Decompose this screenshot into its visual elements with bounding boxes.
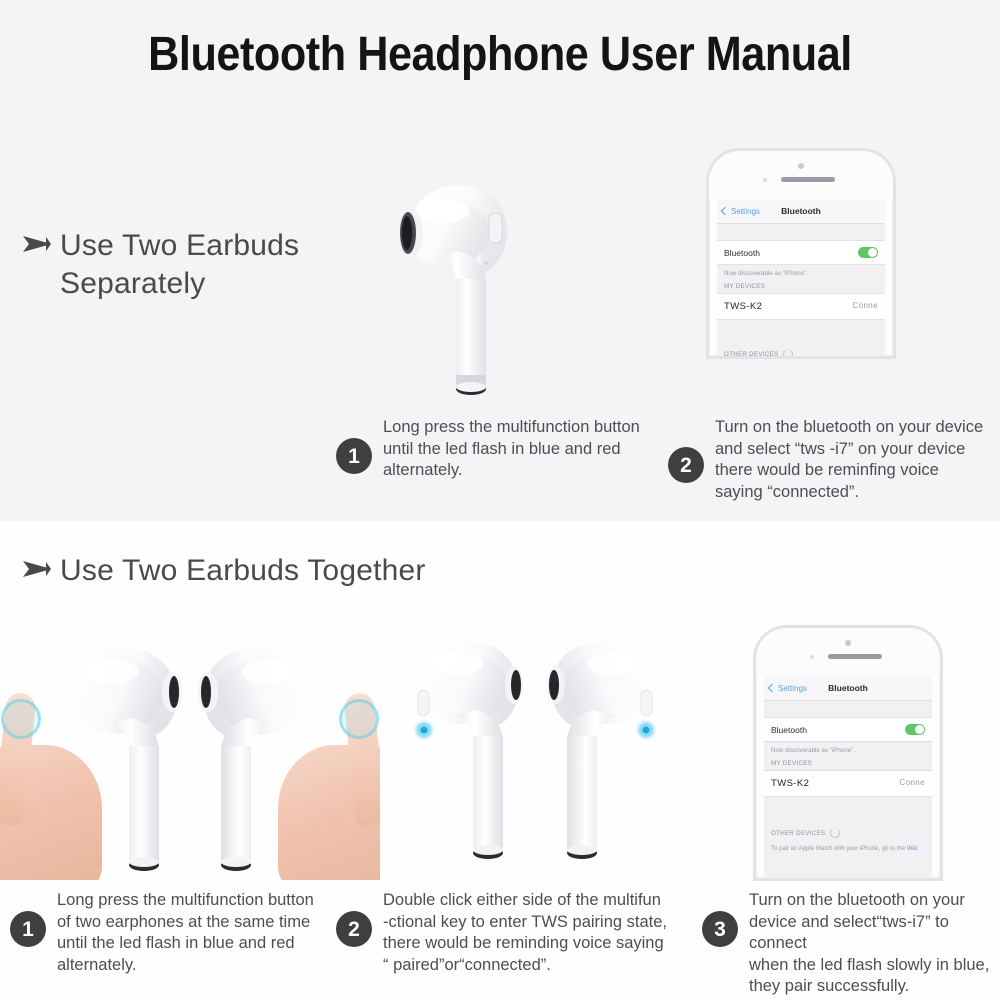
section-heading-together: Use Two Earbuds Together: [22, 552, 542, 590]
step-line: Double click either side of the multifun: [383, 890, 667, 912]
loading-spinner-icon: [830, 828, 840, 838]
section-heading-text: Use Two Earbuds Separately: [60, 227, 360, 303]
step-text: Turn on the bluetooth on your device and…: [749, 890, 1000, 998]
step-line: saying “connected”.: [715, 482, 983, 504]
hand-right: [278, 745, 380, 880]
step-text: Turn on the bluetooth on your device and…: [715, 417, 983, 503]
touch-glow-right-icon: [339, 699, 379, 739]
step-line: device and select“tws-i7” to connect: [749, 912, 1000, 955]
step-together-2: 2 Double click either side of the multif…: [336, 898, 676, 984]
bluetooth-toggle-switch[interactable]: [905, 724, 925, 735]
step-line: until the led flash in blue and red: [57, 933, 314, 955]
screen-gap-2: [717, 320, 885, 346]
loading-spinner-icon: [783, 349, 793, 356]
bluetooth-toggle-row[interactable]: Bluetooth: [764, 717, 932, 742]
screen-gap: [717, 224, 885, 240]
step-number-badge: 2: [668, 447, 704, 483]
navigation-bar: Settings Bluetooth: [764, 676, 932, 701]
hands-pressing-earbuds-image: [0, 628, 380, 880]
my-devices-label: MY DEVICES: [717, 280, 885, 293]
screen-gap: [764, 701, 932, 717]
my-devices-text: MY DEVICES: [724, 283, 765, 290]
device-status: Conne: [899, 778, 925, 789]
phone-screen: Settings Bluetooth Bluetooth Now discove…: [717, 199, 885, 356]
proximity-sensor-icon: [763, 178, 767, 182]
my-devices-label: MY DEVICES: [764, 757, 932, 770]
pair-earbuds-led-image: [400, 630, 670, 875]
iphone-bluetooth-settings-2: Settings Bluetooth Bluetooth Now discove…: [753, 625, 943, 881]
step-line: Long press the multifunction button: [57, 890, 314, 912]
page-title: Bluetooth Headphone User Manual: [50, 26, 950, 84]
screen-gap-2: [764, 797, 932, 825]
my-devices-text: MY DEVICES: [771, 760, 812, 767]
device-row-tws-k2[interactable]: TWS-K2 Conne: [764, 770, 932, 797]
section-heading-text: Use Two Earbuds Together: [60, 552, 426, 590]
heading-line-1: Use Two Earbuds: [60, 229, 299, 262]
heading-line-2: Separately: [60, 267, 205, 300]
discoverable-text: Now discoverable as “iPhone”.: [717, 265, 885, 280]
other-devices-label: OTHER DEVICES: [764, 825, 932, 841]
step-number-badge: 1: [10, 911, 46, 947]
step-line: until the led flash in blue and red: [383, 439, 640, 461]
step-number-badge: 3: [702, 911, 738, 947]
step-line: there would be reminding voice saying: [383, 933, 667, 955]
step-text: Long press the multifunction button unti…: [383, 417, 640, 482]
step-line: Turn on the bluetooth on your device: [715, 417, 983, 439]
step-separately-1: 1 Long press the multifunction button un…: [336, 425, 656, 490]
step-line: -ctional key to enter TWS pairing state,: [383, 912, 667, 934]
front-camera-icon: [798, 163, 804, 169]
hand-left: [0, 745, 102, 880]
nav-title: Bluetooth: [764, 683, 932, 693]
bluetooth-row-label: Bluetooth: [724, 248, 760, 258]
touch-glow-left-icon: [1, 699, 41, 739]
phone-earpiece-area: [709, 151, 893, 199]
device-name: TWS-K2: [724, 301, 762, 312]
device-row-tws-k2[interactable]: TWS-K2 Conne: [717, 293, 885, 320]
step-line: alternately.: [383, 460, 640, 482]
triangle-right-icon: [22, 232, 52, 266]
earpiece-speaker: [781, 177, 835, 182]
front-camera-icon: [845, 640, 851, 646]
step-together-3: 3 Turn on the bluetooth on your device a…: [702, 898, 1000, 1006]
section-heading-separately: Use Two Earbuds Separately: [22, 227, 402, 303]
manual-page: Bluetooth Headphone User Manual Use Two …: [0, 0, 1000, 1000]
step-line: they pair successfully.: [749, 976, 1000, 998]
step-line: “ paired”or“connected”.: [383, 955, 667, 977]
other-devices-text: OTHER DEVICES: [771, 830, 825, 837]
single-earbud-image: [385, 175, 555, 405]
navigation-bar: Settings Bluetooth: [717, 199, 885, 224]
device-name: TWS-K2: [771, 778, 809, 789]
apple-watch-footnote: To pair an Apple Watch with your iPhone,…: [764, 841, 932, 858]
step-text: Long press the multifunction button of t…: [57, 890, 314, 976]
step-line: Long press the multifunction button: [383, 417, 640, 439]
bluetooth-row-label: Bluetooth: [771, 725, 807, 735]
triangle-right-icon: [22, 557, 52, 591]
phone-earpiece-area: [756, 628, 940, 676]
bluetooth-toggle-row[interactable]: Bluetooth: [717, 240, 885, 265]
step-separately-2: 2 Turn on the bluetooth on your device a…: [668, 425, 988, 511]
nav-title: Bluetooth: [717, 206, 885, 216]
step-line: of two earphones at the same time: [57, 912, 314, 934]
step-line: when the led flash slowly in blue,: [749, 955, 1000, 977]
footnote-text: To pair an Apple Watch with your iPhone,…: [771, 846, 907, 852]
step-line: alternately.: [57, 955, 314, 977]
other-devices-label: OTHER DEVICES: [717, 346, 885, 356]
device-status: Conne: [852, 301, 878, 312]
proximity-sensor-icon: [810, 655, 814, 659]
step-number-badge: 1: [336, 438, 372, 474]
discoverable-text: Now discoverable as “iPhone”.: [764, 742, 932, 757]
step-number-badge: 2: [336, 911, 372, 947]
step-line: Turn on the bluetooth on your: [749, 890, 1000, 912]
step-line: there would be reminfing voice: [715, 460, 983, 482]
bluetooth-toggle-switch[interactable]: [858, 247, 878, 258]
other-devices-text: OTHER DEVICES: [724, 351, 778, 357]
phone-screen: Settings Bluetooth Bluetooth Now discove…: [764, 676, 932, 878]
earpiece-speaker: [828, 654, 882, 659]
step-line: and select “tws -i7” on your device: [715, 439, 983, 461]
step-together-1: 1 Long press the multifunction button of…: [10, 898, 340, 984]
watch-app-link[interactable]: Wat: [907, 846, 917, 852]
step-text: Double click either side of the multifun…: [383, 890, 667, 976]
iphone-bluetooth-settings-1: Settings Bluetooth Bluetooth Now discove…: [706, 148, 896, 359]
